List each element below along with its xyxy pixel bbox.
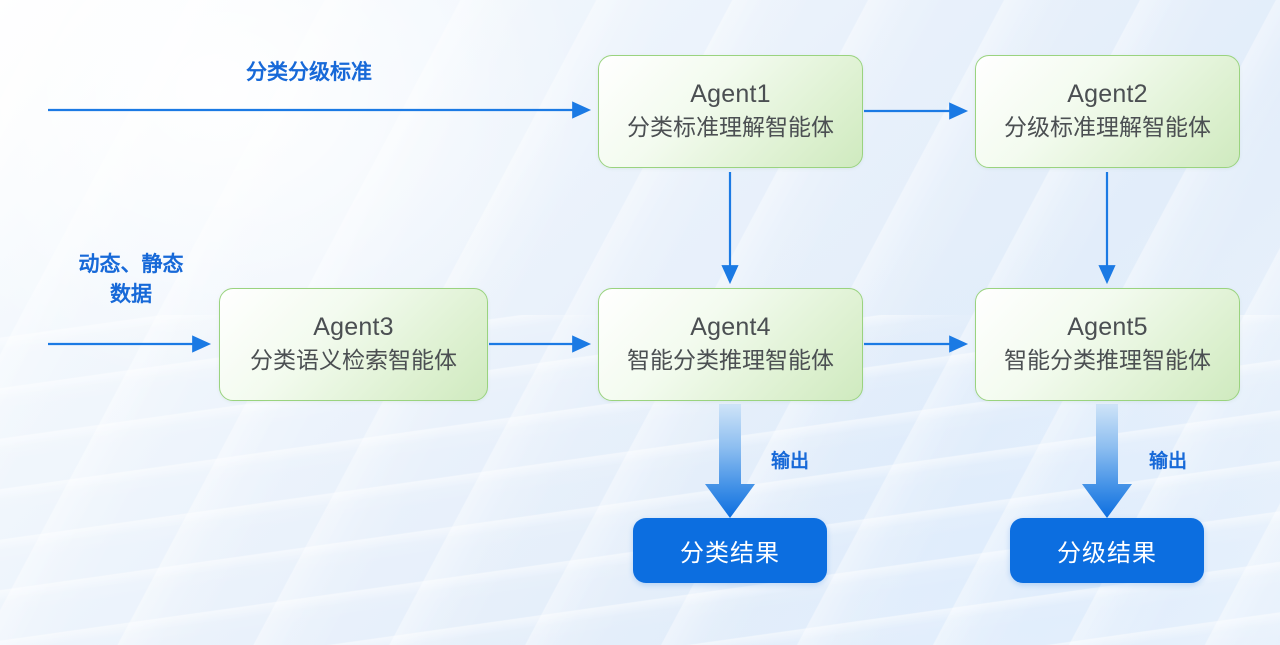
input-label-standard: 分类分级标准	[246, 58, 372, 88]
input-label-data-line1: 动态、静态	[68, 250, 194, 280]
node-agent1-subtitle: 分类标准理解智能体	[627, 113, 834, 143]
thick-output-arrow-right	[1082, 404, 1132, 518]
result-classification[interactable]: 分类结果	[633, 518, 827, 583]
node-agent4-title: Agent4	[690, 313, 770, 343]
input-label-data-line2: 数据	[68, 280, 194, 310]
result-grading-label: 分级结果	[1057, 533, 1157, 568]
node-agent5-title: Agent5	[1067, 313, 1147, 343]
node-agent2[interactable]: Agent2 分级标准理解智能体	[975, 55, 1240, 168]
input-label-data: 动态、静态 数据	[68, 250, 194, 311]
node-agent4-subtitle: 智能分类推理智能体	[627, 346, 834, 376]
output-arrow-label-right: 输出	[1149, 448, 1187, 476]
output-arrow-label-left: 输出	[771, 448, 809, 476]
node-agent5-subtitle: 智能分类推理智能体	[1004, 346, 1211, 376]
node-agent1[interactable]: Agent1 分类标准理解智能体	[598, 55, 863, 168]
diagram-canvas: 分类分级标准 动态、静态 数据 Agent1 分类标准理解智能体 Agent2 …	[0, 0, 1280, 645]
node-agent3[interactable]: Agent3 分类语义检索智能体	[219, 288, 488, 401]
node-agent2-title: Agent2	[1067, 80, 1147, 110]
node-agent2-subtitle: 分级标准理解智能体	[1004, 113, 1211, 143]
result-classification-label: 分类结果	[680, 533, 780, 568]
node-agent3-title: Agent3	[313, 313, 393, 343]
thick-output-arrow-left	[705, 404, 755, 518]
node-agent1-title: Agent1	[690, 80, 770, 110]
result-grading[interactable]: 分级结果	[1010, 518, 1204, 583]
node-agent3-subtitle: 分类语义检索智能体	[250, 346, 457, 376]
node-agent5[interactable]: Agent5 智能分类推理智能体	[975, 288, 1240, 401]
node-agent4[interactable]: Agent4 智能分类推理智能体	[598, 288, 863, 401]
